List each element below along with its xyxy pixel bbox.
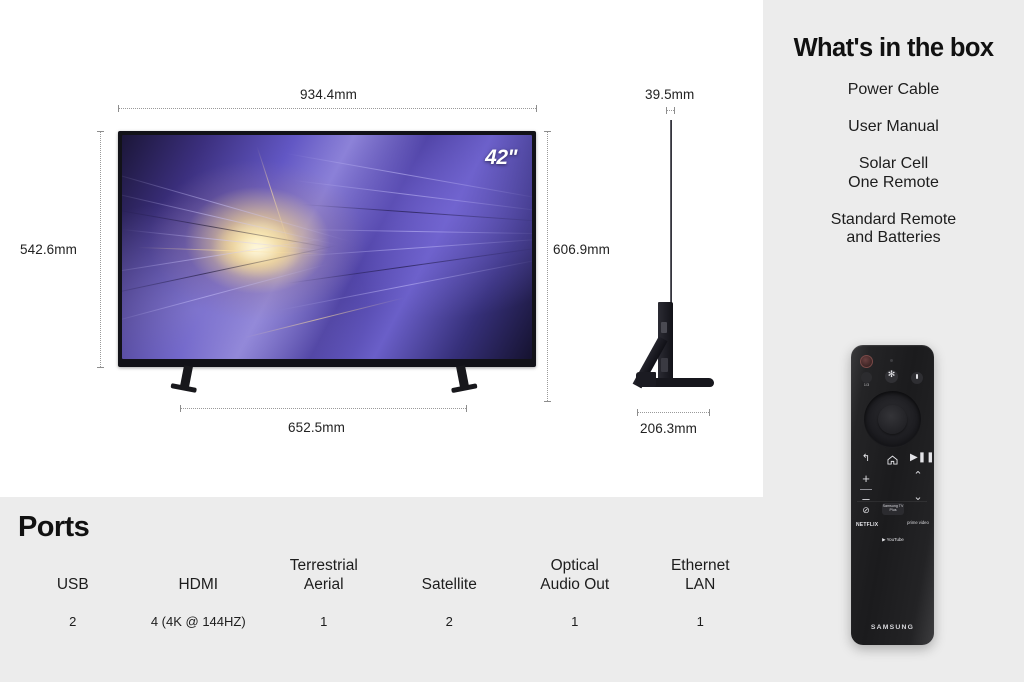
port-label: Terrestrial Aerial (261, 557, 387, 594)
dimension-cap (466, 405, 467, 412)
tv-front-view: 42" (118, 131, 536, 367)
volume-divider (860, 489, 872, 490)
port-label: USB (10, 576, 136, 595)
tv-stand-base-tip (636, 372, 656, 387)
tv-foot-right (456, 365, 469, 388)
port-value: 2 (10, 614, 136, 629)
prime-video-button[interactable]: prime video (907, 520, 929, 525)
numeric-123-icon[interactable] (861, 372, 872, 383)
volume-up-icon[interactable]: + (860, 471, 872, 486)
dimension-cap (666, 107, 667, 114)
port-label-line2: LAN (638, 576, 764, 595)
box-item: User Manual (763, 118, 1024, 137)
port-column-ethernet-lan: Ethernet LAN 1 (638, 557, 764, 629)
box-item-line1: Standard Remote (831, 211, 956, 228)
port-label: Optical Audio Out (512, 557, 638, 594)
dimension-front-height-label: 542.6mm (20, 242, 77, 257)
port-label-line1: Ethernet (671, 557, 730, 574)
dimension-depth-label: 39.5mm (645, 87, 694, 102)
dimension-line-total-height (547, 131, 549, 401)
port-label-line1: USB (57, 576, 89, 593)
volume-down-icon[interactable]: – (860, 491, 872, 506)
tv-screen-image: 42" (122, 135, 532, 359)
port-column-usb: USB 2 (10, 576, 136, 630)
dimension-panel: 934.4mm 542.6mm 606.9mm (0, 0, 763, 497)
port-label-line1: Terrestrial (290, 557, 358, 574)
dimension-cap (180, 405, 181, 412)
dimension-front-width-label: 934.4mm (300, 87, 357, 102)
port-label: HDMI (136, 576, 262, 595)
dimension-cap (536, 105, 537, 112)
samsung-brand-label: SAMSUNG (851, 624, 934, 631)
channel-up-icon[interactable]: ⌃ (911, 469, 925, 482)
tv-side-panel (670, 120, 672, 306)
dimension-line-front-height (100, 131, 102, 367)
port-label-line2: Audio Out (512, 576, 638, 595)
whats-in-the-box-title: What's in the box (763, 34, 1024, 63)
remote-divider (857, 501, 927, 502)
dimension-cap (118, 105, 119, 112)
dimension-cap (97, 367, 104, 368)
dimension-line-stand-depth (637, 412, 709, 414)
port-column-satellite: Satellite 2 (387, 576, 513, 630)
netflix-button[interactable]: NETFLIX (856, 522, 878, 528)
product-spec-sheet: 934.4mm 542.6mm 606.9mm (0, 0, 1024, 682)
port-value: 4 (4K @ 144HZ) (136, 614, 262, 629)
screen-size-badge: 42" (485, 146, 517, 170)
box-item-line2: and Batteries (763, 229, 1024, 248)
port-label-line1: Optical (551, 557, 599, 574)
box-item-line1: Solar Cell (859, 155, 928, 172)
box-item: Power Cable (763, 81, 1024, 100)
port-column-hdmi: HDMI 4 (4K @ 144HZ) (136, 576, 262, 630)
box-item: Standard Remote and Batteries (763, 211, 1024, 249)
microphone-icon[interactable] (911, 372, 923, 384)
ok-button[interactable] (878, 405, 907, 434)
mute-icon[interactable]: ⊘ (859, 505, 873, 516)
power-icon[interactable] (860, 355, 873, 368)
dimension-line-front-width (118, 108, 536, 110)
dimension-cap (637, 409, 638, 416)
port-label-line1: Satellite (422, 576, 477, 593)
dimension-cap (544, 401, 551, 402)
home-icon[interactable] (884, 455, 900, 465)
box-item-line1: User Manual (848, 118, 939, 135)
port-label-line2: Aerial (261, 576, 387, 595)
youtube-button[interactable]: ▶ YouTube (881, 537, 905, 543)
colour-burst-icon[interactable] (885, 370, 898, 383)
port-column-terrestrial-aerial: Terrestrial Aerial 1 (261, 557, 387, 629)
ports-title: Ports (18, 511, 89, 544)
port-value: 1 (512, 614, 638, 629)
box-item: Solar Cell One Remote (763, 155, 1024, 193)
dimension-cap (97, 131, 104, 132)
dimension-line-stand-width (180, 408, 466, 410)
port-value: 2 (387, 614, 513, 629)
tv-side-view (600, 120, 730, 390)
port-value: 1 (261, 614, 387, 629)
dimension-stand-width-label: 652.5mm (288, 420, 345, 435)
box-item-line1: Power Cable (848, 81, 940, 98)
dimension-cap (544, 131, 551, 132)
whats-in-the-box-section: What's in the box Power Cable User Manua… (763, 0, 1024, 340)
samsung-tv-plus-button[interactable]: Samsung TV Plus (882, 503, 904, 515)
dimension-line-depth (666, 110, 674, 112)
box-item-line2: One Remote (763, 174, 1024, 193)
play-pause-icon[interactable]: ▶❚❚ (910, 452, 926, 463)
ports-section: Ports USB 2 HDMI 4 (4K @ 144HZ) Terrestr… (0, 497, 763, 682)
port-label: Satellite (387, 576, 513, 595)
samsung-remote-control: ↰ ▶❚❚ + – ⌃ ⌄ ⊘ Samsung TV Plus NETFLIX … (851, 345, 934, 645)
dimension-cap (674, 107, 675, 114)
port-value: 1 (638, 614, 764, 629)
tv-foot-left (180, 365, 193, 388)
back-icon[interactable]: ↰ (859, 453, 873, 464)
directional-pad[interactable] (864, 391, 921, 448)
dimension-cap (709, 409, 710, 416)
dimension-stand-depth-label: 206.3mm (640, 421, 697, 436)
ir-led-icon (890, 359, 893, 362)
port-label-line1: HDMI (178, 576, 218, 593)
port-column-optical-audio-out: Optical Audio Out 1 (512, 557, 638, 629)
port-label: Ethernet LAN (638, 557, 764, 594)
ports-row: USB 2 HDMI 4 (4K @ 144HZ) Terrestrial Ae… (10, 557, 763, 629)
